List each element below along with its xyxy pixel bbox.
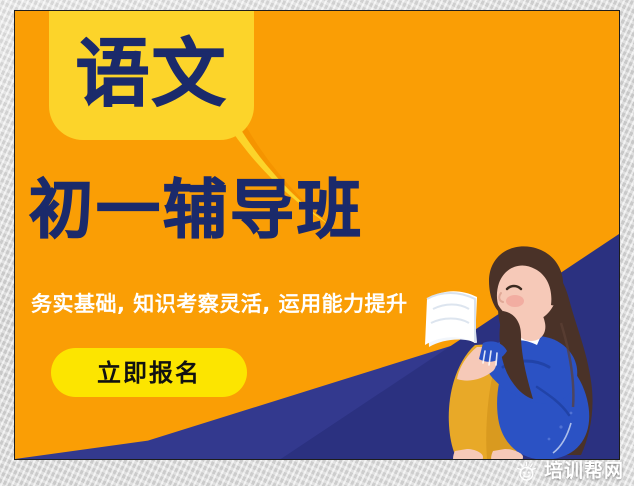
watermark-label: 培训帮网 — [544, 462, 624, 481]
site-watermark: 培训帮网 — [510, 459, 630, 484]
image-canvas: 语文 初一辅导班 务实基础, 知识考察灵活, 运用能力提升 立即报名 — [0, 0, 634, 486]
signup-button[interactable]: 立即报名 — [51, 348, 247, 397]
subject-badge: 语文 — [49, 11, 254, 140]
sun-face-logo-icon — [516, 461, 537, 482]
poster-subtitle: 务实基础, 知识考察灵活, 运用能力提升 — [31, 292, 408, 317]
reading-woman-illustration — [411, 227, 620, 460]
subject-badge-label: 语文 — [76, 37, 228, 115]
signup-button-label: 立即报名 — [97, 361, 201, 385]
poster-headline: 初一辅导班 — [29, 179, 364, 243]
course-poster: 语文 初一辅导班 务实基础, 知识考察灵活, 运用能力提升 立即报名 — [14, 10, 620, 460]
